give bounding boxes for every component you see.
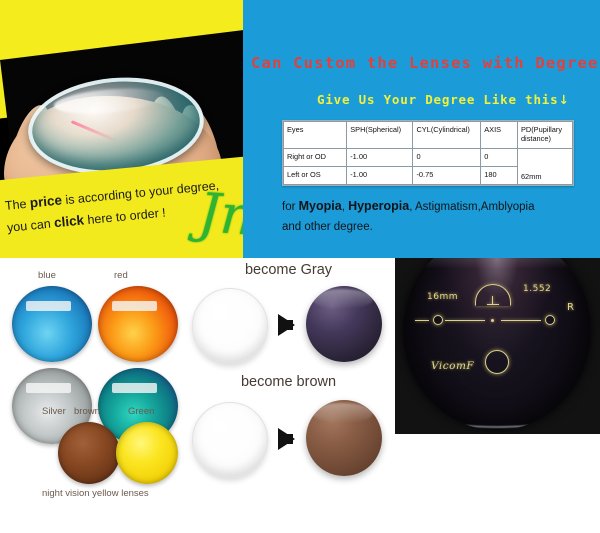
lens-swatch-red — [98, 286, 178, 362]
lens-swatch-yellow — [116, 422, 178, 484]
engraving-side-text: R — [567, 302, 574, 313]
cell-cyl-right: 0 — [413, 149, 481, 167]
lens-rim — [98, 286, 178, 362]
brown-tinted-lens — [306, 400, 382, 476]
label-brown: brown — [74, 406, 100, 417]
engraving-ring-left — [433, 315, 443, 325]
down-arrow-icon: ↓ — [558, 92, 569, 107]
label-silver: Silver — [42, 406, 66, 417]
cell-sph-left: -1.00 — [347, 167, 413, 185]
engraved-lens-photo: 16mm 1.552 R VicomF — [403, 258, 591, 430]
header-eyes: Eyes — [284, 122, 347, 149]
conditions-line2: and other degree. — [282, 217, 600, 237]
degree-table: Eyes SPH(Spherical) CYL(Cylindrical) AXI… — [283, 121, 573, 185]
gray-tinted-lens — [306, 286, 382, 362]
table-header-row: Eyes SPH(Spherical) CYL(Cylindrical) AXI… — [284, 122, 573, 149]
cell-sph-right: -1.00 — [347, 149, 413, 167]
cell-axis-left: 180 — [481, 167, 518, 185]
lens-bottom-rim — [412, 386, 581, 428]
header-pd: PD(Pupillary distance) — [517, 122, 572, 149]
clear-lens-before-gray — [192, 288, 268, 364]
lens-glare — [53, 85, 165, 117]
engraving-index-text: 1.552 — [523, 284, 551, 294]
engraving-brand-text: VicomF — [431, 360, 474, 372]
lens-swatch-blue — [12, 286, 92, 362]
header-cyl: CYL(Cylindrical) — [413, 122, 481, 149]
cell-eye-right: Right or OD — [284, 149, 347, 167]
conditions-prefix: for — [282, 201, 299, 213]
engraving-size-text: 16mm — [427, 292, 458, 302]
price-note-bold-price: price — [29, 192, 63, 210]
conditions-rest: , Astigmatism,Amblyopia — [409, 201, 534, 213]
clear-lens-before-brown — [192, 402, 268, 478]
condition-hyperopia: Hyperopia — [348, 199, 409, 213]
cell-axis-right: 0 — [481, 149, 518, 167]
transition-arrow-icon — [278, 314, 295, 336]
engraving-axis-line-left — [445, 320, 485, 321]
lens-highlight — [312, 289, 373, 309]
promo-subheadline-text: Give Us Your Degree Like this — [317, 92, 558, 107]
supported-conditions-text: for Myopia, Hyperopia, Astigmatism,Ambly… — [282, 196, 600, 237]
price-note-bold-click: click — [53, 212, 84, 230]
lens-rim — [116, 422, 178, 484]
degree-table-container: Eyes SPH(Spherical) CYL(Cylindrical) AXI… — [282, 120, 574, 186]
lens-swatch-brown — [58, 422, 120, 484]
promo-subheadline: Give Us Your Degree Like this↓ — [317, 92, 570, 107]
lens-rim — [12, 286, 92, 362]
color-lens-grid-panel: blue red Silver brown Green night vision — [0, 258, 182, 533]
table-row: Right or OD -1.00 0 0 62mm — [284, 149, 573, 167]
engraving-ring-right — [545, 315, 555, 325]
price-note-line2-prefix: you can — [6, 216, 54, 234]
hand-lens-photo-panel: The price is according to your degree, y… — [0, 0, 252, 258]
cell-eye-left: Left or OS — [284, 167, 347, 185]
header-sph: SPH(Spherical) — [347, 122, 413, 149]
price-note-line1-prefix: The — [4, 197, 30, 213]
condition-myopia: Myopia — [299, 199, 342, 213]
lens-engraving-panel: 16mm 1.552 R VicomF — [395, 258, 600, 434]
lens-top-highlight — [414, 258, 579, 281]
lens-rim — [58, 422, 120, 484]
lens-reflection-streak — [71, 120, 119, 142]
engraving-addition-circle — [485, 350, 509, 374]
label-green: Green — [128, 406, 154, 417]
engraving-axis-line-left-outer — [415, 320, 429, 321]
become-gray-title: become Gray — [182, 262, 395, 278]
engraving-center-stem — [492, 296, 493, 305]
promo-headline: Can Custom the Lenses with Degree — [251, 54, 600, 72]
cell-pd-value: 62mm — [517, 149, 572, 185]
product-infographic: The price is according to your degree, y… — [0, 0, 600, 533]
custom-degree-panel: Can Custom the Lenses with Degree Give U… — [243, 0, 600, 258]
engraving-axis-line-right — [501, 320, 541, 321]
engraving-center-dot — [491, 319, 494, 322]
cell-cyl-left: -0.75 — [413, 167, 481, 185]
transition-arrow-icon — [278, 428, 295, 450]
header-axis: AXIS — [481, 122, 518, 149]
label-blue: blue — [38, 270, 56, 281]
lens-highlight — [312, 403, 373, 423]
photochromic-panel: become Gray become brown — [182, 258, 395, 533]
night-vision-caption: night vision yellow lenses — [42, 488, 149, 499]
become-brown-title: become brown — [182, 374, 395, 390]
label-red: red — [114, 270, 128, 281]
